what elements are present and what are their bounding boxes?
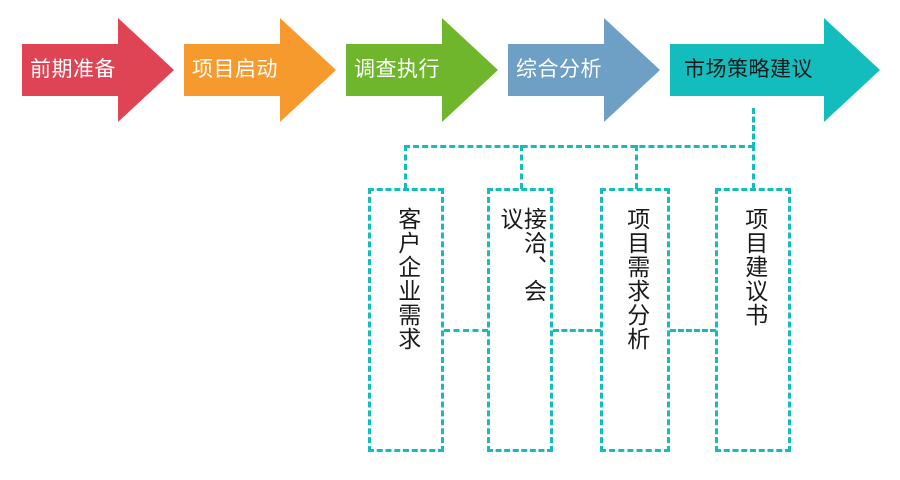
process-arrow-stage1[interactable] xyxy=(18,14,178,126)
connector-drop-sub1 xyxy=(404,145,407,189)
substep-label-wrap-sub1: 客户企业需求 xyxy=(371,207,441,351)
process-arrow-stage3[interactable] xyxy=(342,14,502,126)
connector-sub3-to-sub4 xyxy=(670,329,716,332)
substep-label-wrap-sub4: 项目建议书 xyxy=(718,207,788,327)
substep-label-sub3: 项目需求分析 xyxy=(623,207,646,351)
substep-label-sub4: 项目建议书 xyxy=(741,207,764,327)
process-arrow-stage4[interactable] xyxy=(504,14,664,126)
process-arrow-stage5[interactable] xyxy=(666,14,884,126)
substep-label-sub2: 接洽、会议 xyxy=(497,207,544,325)
substep-box-sub1[interactable]: 客户企业需求 xyxy=(368,188,444,452)
arrow-shape-stage4 xyxy=(504,14,664,126)
connector-bus-horizontal xyxy=(404,145,754,148)
substep-label-wrap-sub2: 接洽、会议 xyxy=(490,207,550,325)
connector-drop-sub3 xyxy=(635,145,638,189)
connector-sub1-to-sub2 xyxy=(444,329,488,332)
arrow-shape-stage5 xyxy=(666,14,884,126)
substep-box-sub3[interactable]: 项目需求分析 xyxy=(600,188,670,452)
connector-drop-sub4 xyxy=(752,145,755,189)
connector-drop-from-stage5 xyxy=(752,108,755,148)
arrow-shape-stage3 xyxy=(342,14,502,126)
substep-box-sub2[interactable]: 接洽、会议 xyxy=(487,188,553,452)
substep-label-sub1: 客户企业需求 xyxy=(394,207,417,351)
arrow-shape-stage2 xyxy=(180,14,340,126)
diagram-canvas: 前期准备 项目启动 调查执行 综合分析 市场策略建议 客户企业需求 xyxy=(0,0,900,480)
substep-label-wrap-sub3: 项目需求分析 xyxy=(603,207,667,351)
connector-drop-sub2 xyxy=(520,145,523,189)
substep-box-sub4[interactable]: 项目建议书 xyxy=(715,188,791,452)
process-arrow-stage2[interactable] xyxy=(180,14,340,126)
arrow-shape-stage1 xyxy=(18,14,178,126)
connector-sub2-to-sub3 xyxy=(553,329,601,332)
